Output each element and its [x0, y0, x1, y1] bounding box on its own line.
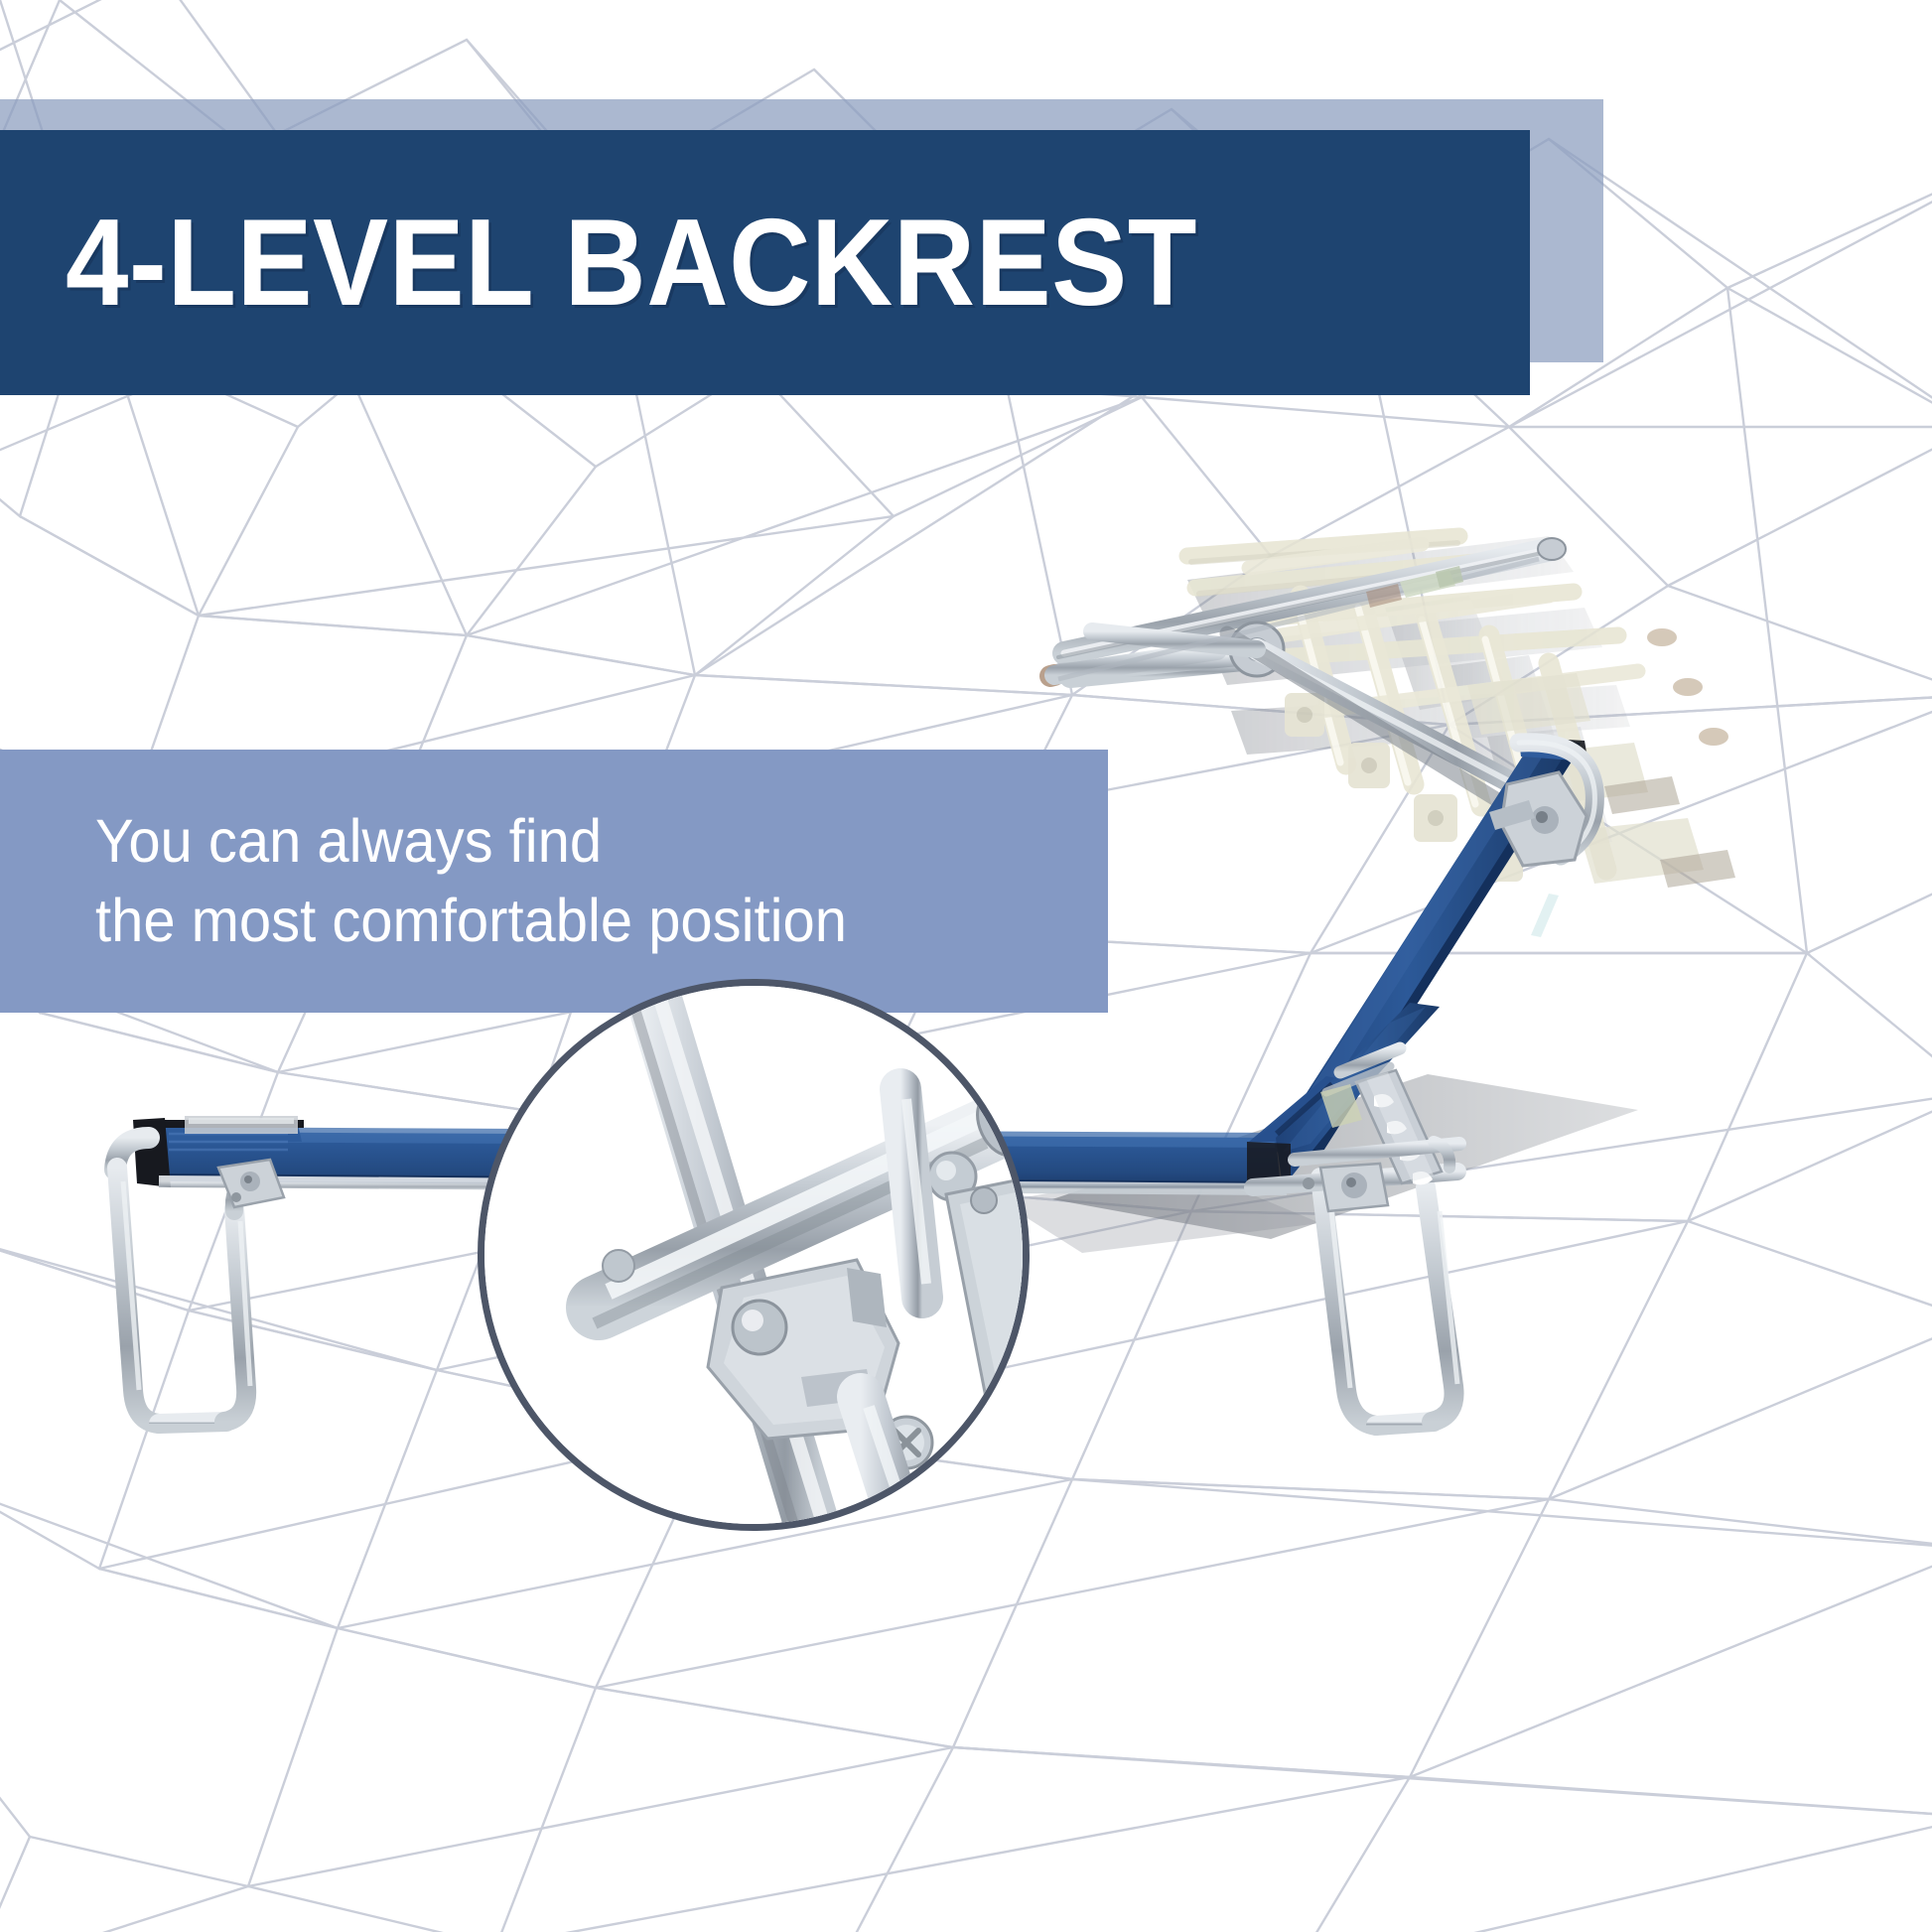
subtitle-line-2: the most comfortable position [95, 882, 1057, 960]
rear-leg-pivot [1320, 1164, 1388, 1211]
magnifier-detail-view [478, 979, 1030, 1531]
magnifier-circle-icon [478, 979, 1030, 1531]
page-title: 4-LEVEL BACKREST [66, 202, 1197, 325]
subtitle-box: You can always find the most comfortable… [0, 750, 1108, 1013]
title-banner: 4-LEVEL BACKREST [0, 130, 1530, 395]
subtitle-line-1: You can always find [95, 802, 1057, 881]
detail-vertical-strut [900, 1089, 926, 1298]
ghost-backrest-positions [1187, 536, 1735, 888]
detail-rivet-small [603, 1250, 634, 1282]
arm-end-cap [1538, 538, 1566, 560]
poster-canvas: 4-LEVEL BACKREST You can always find the… [0, 0, 1932, 1932]
